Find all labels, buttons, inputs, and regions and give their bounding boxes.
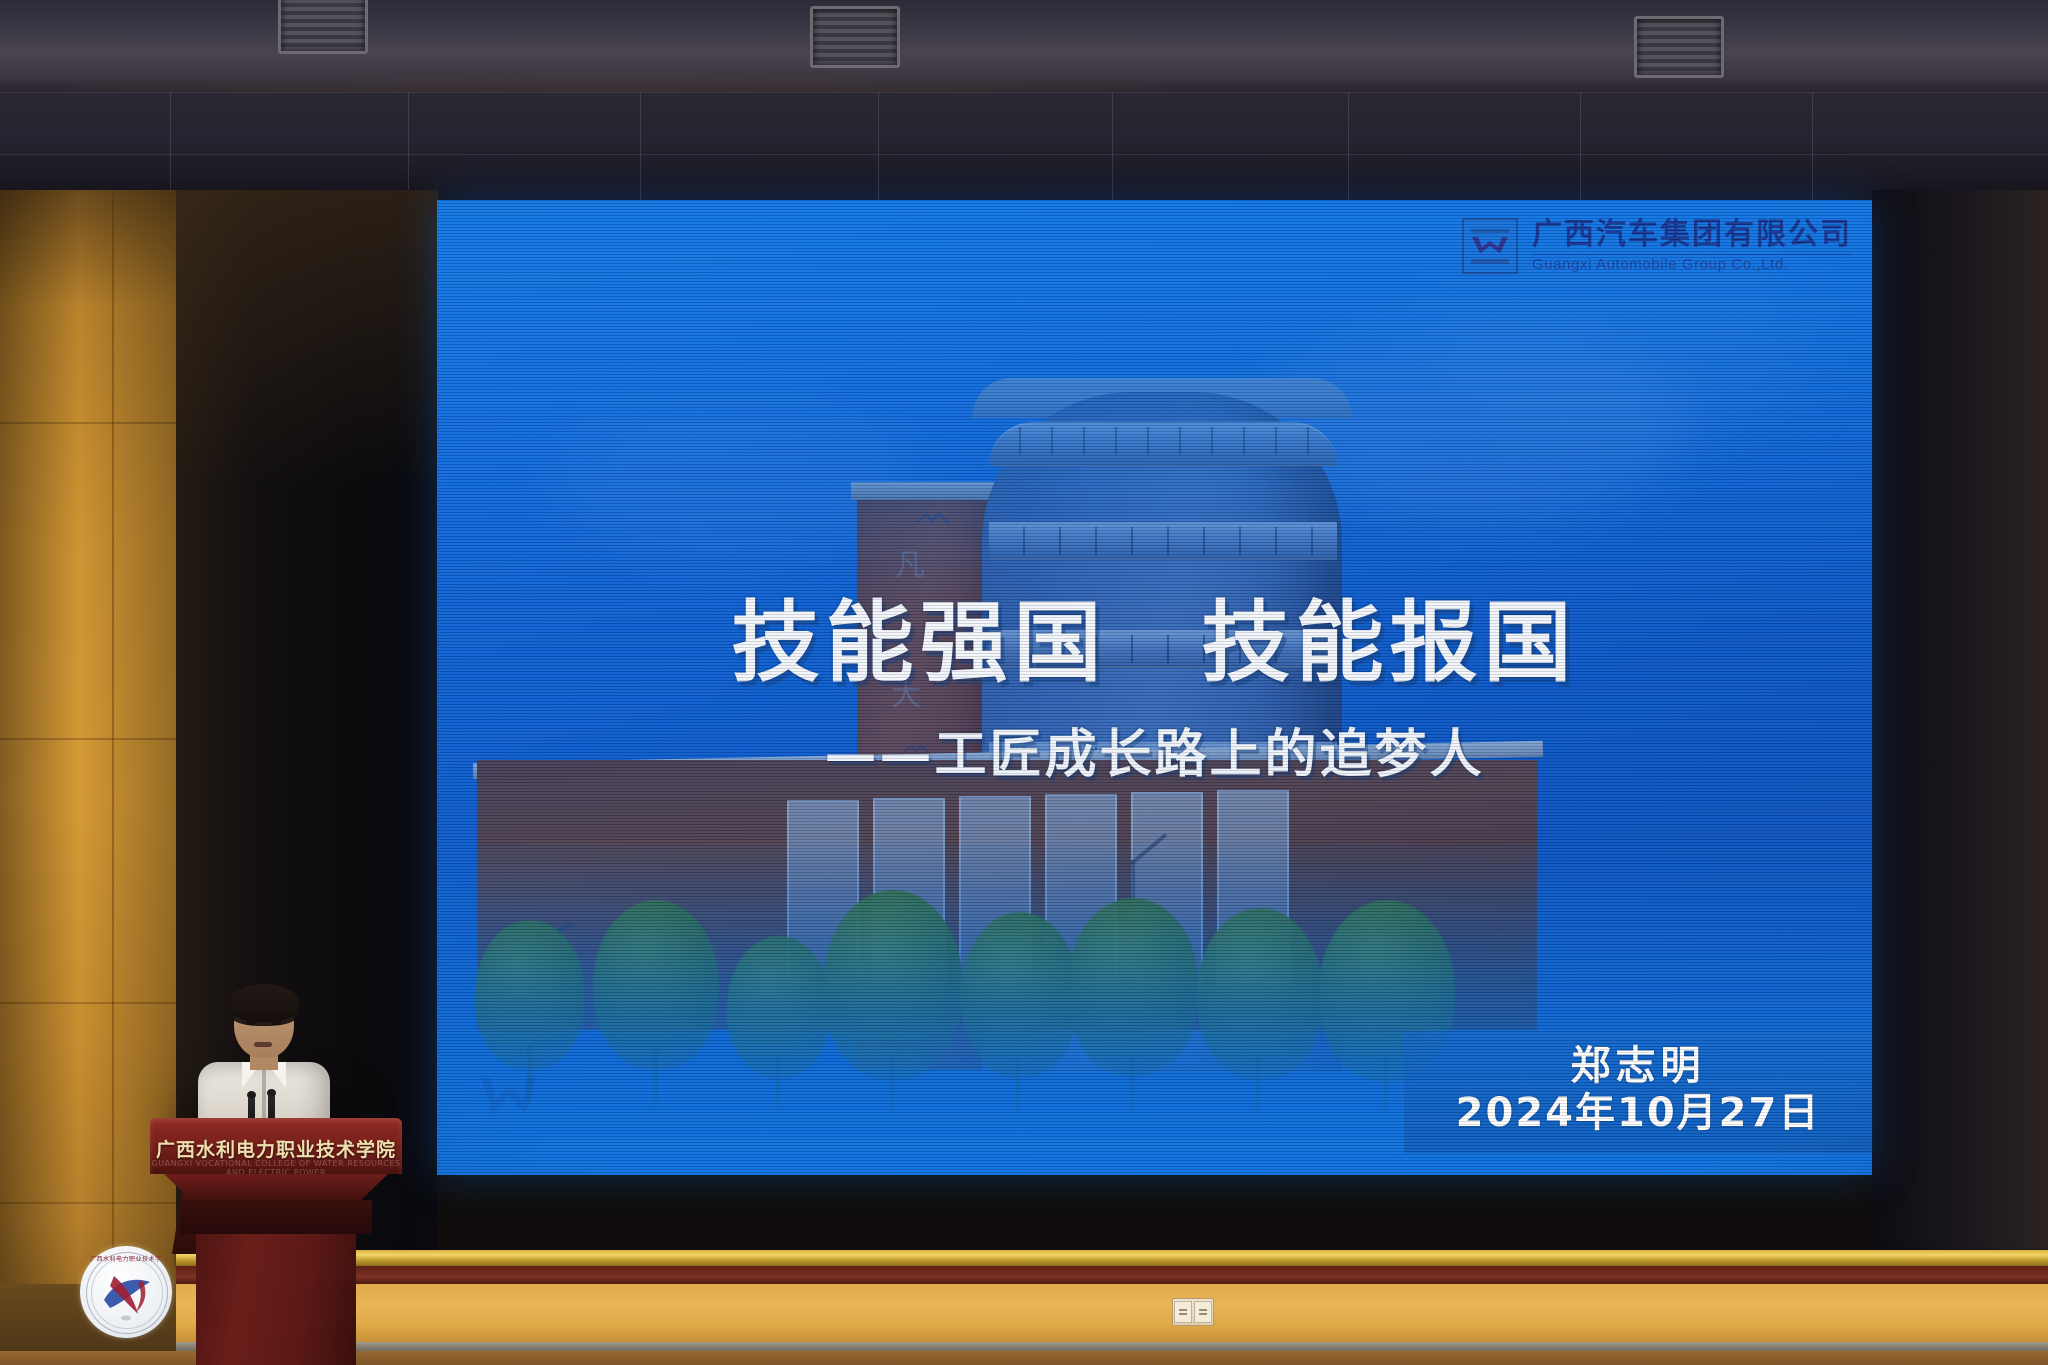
ceiling-vent-icon [1634, 16, 1724, 78]
slide-subtitle: ——工匠成长路上的追梦人 [437, 712, 1872, 787]
ceiling-vent-icon [810, 6, 900, 68]
wall-outlet-icon[interactable] [1172, 1298, 1214, 1326]
led-screen[interactable]: 凡 大 成 [437, 200, 1872, 1175]
podium-neck [180, 1200, 372, 1234]
college-seal-emblem: 广西水利电力职业技术学院 [80, 1246, 172, 1338]
presenter-mouth [254, 1042, 272, 1047]
podium: 广西水利电力职业技术学院 GUANGXI VOCATIONAL COLLEGE … [150, 1118, 402, 1365]
right-dark-wall [1872, 190, 2048, 1250]
wuling-w-wing-logo-icon [1462, 218, 1518, 274]
speaker-info-box: 郑志明 2024年10月27日 [1404, 1031, 1872, 1153]
stage-red-band [176, 1266, 2048, 1284]
slide-watermark-logo-icon [475, 1070, 545, 1120]
brand-company-en: Guangxi Automobile Group Co.,Ltd. [1532, 257, 1852, 273]
brand-lockup: 广西汽车集团有限公司 Guangxi Automobile Group Co.,… [1462, 218, 1852, 274]
stage-gold-trim [176, 1250, 2048, 1266]
podium-lip [164, 1174, 388, 1200]
ceiling-vent-icon [278, 0, 368, 54]
speaker-name: 郑志明 [1438, 1043, 1838, 1089]
podium-column [196, 1234, 356, 1365]
slide-title: 技能强国 技能报国 [437, 572, 1872, 699]
dark-wall-band-highlight [176, 190, 438, 490]
upper-wall [0, 92, 2048, 200]
auditorium-scene: 凡 大 成 [0, 0, 2048, 1365]
stage-baseboard [176, 1342, 2048, 1351]
brand-company-cn: 广西汽车集团有限公司 [1532, 219, 1852, 251]
presenter-hair [229, 984, 299, 1022]
presentation-date: 2024年10月27日 [1438, 1089, 1838, 1137]
stage-front-wall [176, 1284, 2048, 1342]
podium-institution-label: 广西水利电力职业技术学院 [150, 1135, 402, 1162]
